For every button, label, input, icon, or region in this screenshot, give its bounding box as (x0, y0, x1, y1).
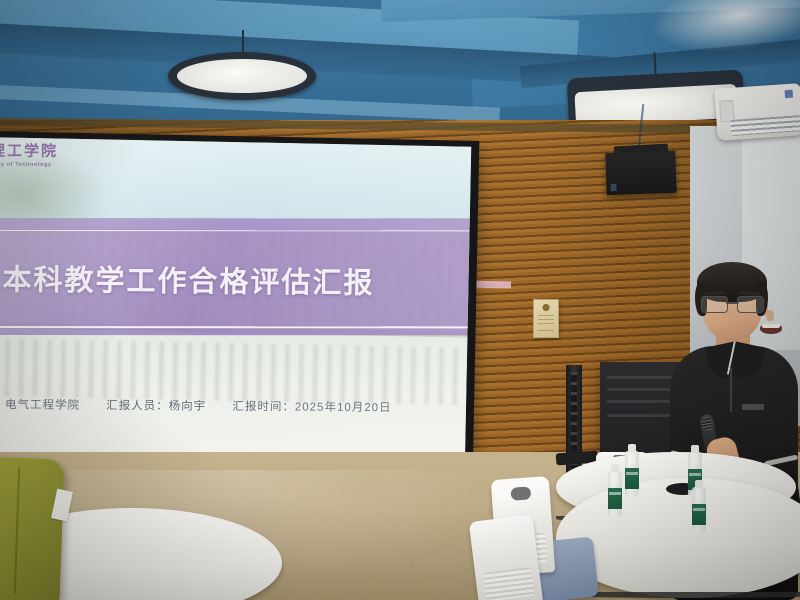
bottle-label (608, 488, 622, 509)
plaque-crest-icon (543, 304, 550, 311)
glasses-lens-right (737, 296, 764, 313)
presenter-mouth (760, 324, 782, 334)
pendant-light-icon (168, 52, 316, 100)
bottle-neck (612, 473, 618, 483)
water-bottle (625, 451, 639, 497)
logo-english-text: ...ity of Technology (0, 161, 58, 167)
bottle-cap (695, 480, 703, 488)
chair-back-ribs (483, 567, 535, 600)
bottle-cap (611, 464, 619, 472)
chair-handle-slot (510, 486, 531, 501)
room-photo: 理工学院 ...ity of Technology 本科教学工作合格评估汇报 位… (0, 0, 800, 600)
pendant-cord (242, 30, 244, 54)
footer-presenter: 汇报人员：杨向宇 (107, 400, 207, 413)
water-bottle (608, 471, 622, 517)
pendant-diffuser (177, 59, 307, 94)
footer-date: 汇报时间：2025年10月20日 (233, 401, 392, 414)
microphone-grille (701, 416, 714, 432)
presentation-slide: 理工学院 ...ity of Technology 本科教学工作合格评估汇报 位… (0, 137, 471, 470)
presenter-teeth (762, 324, 780, 328)
glasses-icon (701, 296, 764, 311)
bottle-label (625, 468, 639, 489)
slide-title: 本科教学工作合格评估汇报 (2, 256, 374, 302)
water-bottle (692, 487, 706, 533)
bottle-neck (692, 454, 698, 464)
wall-speaker-icon (605, 151, 676, 195)
ac-vent (730, 115, 800, 136)
band-rule-top (0, 230, 471, 232)
band-rule-bottom (0, 326, 471, 328)
logo-chinese-text: 理工学院 (0, 139, 58, 160)
shirt-logo (742, 404, 764, 410)
ac-logo (785, 90, 794, 99)
university-logo: 理工学院 ...ity of Technology (0, 139, 58, 167)
footer-unit: 位：电气工程学院 (0, 399, 81, 412)
bottle-cap (691, 445, 699, 453)
bottle-neck (629, 453, 635, 463)
bottle-cap (628, 444, 636, 452)
speaker-led (610, 184, 616, 191)
glasses-lens-left (701, 296, 728, 313)
projection-screen[interactable]: 理工学院 ...ity of Technology 本科教学工作合格评估汇报 位… (0, 131, 479, 481)
screen-surface: 理工学院 ...ity of Technology 本科教学工作合格评估汇报 位… (0, 137, 471, 470)
white-stacking-chair (469, 514, 543, 600)
chair-fold (13, 467, 19, 595)
wall-plaque (533, 299, 559, 338)
bottle-label (692, 504, 706, 525)
polo-placket (730, 368, 732, 412)
olive-armchair (0, 457, 65, 600)
air-conditioner-icon (714, 83, 800, 141)
bottle-neck (696, 489, 702, 499)
